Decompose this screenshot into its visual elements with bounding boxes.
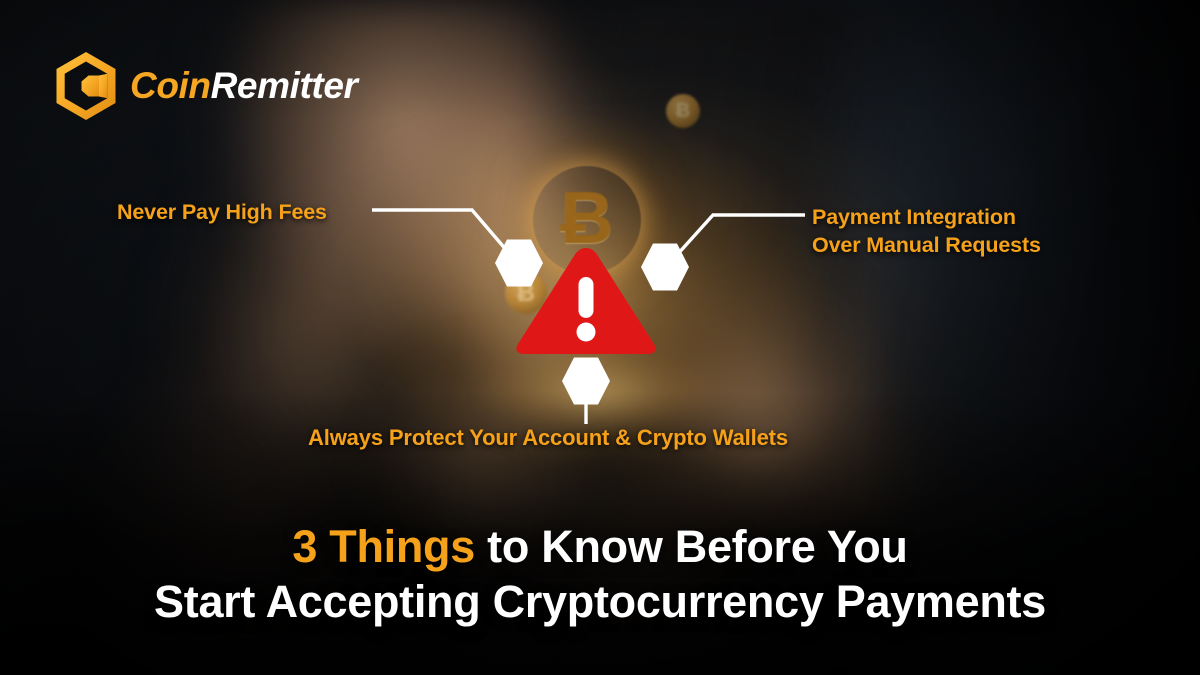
headline: 3 Things to Know Before You Start Accept… [0,520,1200,630]
headline-line1-rest: to Know Before You [475,521,908,572]
headline-line-1: 3 Things to Know Before You [0,520,1200,575]
headline-line-2: Start Accepting Cryptocurrency Payments [0,575,1200,630]
promo-banner: Ƀ Ƀ CoinRemitter [0,0,1200,675]
callout-fees-text: Never Pay High Fees [117,200,327,224]
callout-payment-line2: Over Manual Requests [812,231,1041,259]
callout-label-fees: Never Pay High Fees [117,198,327,226]
coinremitter-hexagon-c-logo-icon [55,52,117,120]
brand-name-part1: Coin [130,65,211,106]
callout-label-protect: Always Protect Your Account & Crypto Wal… [308,423,788,452]
warning-triangle-icon [512,244,660,356]
brand-logo[interactable]: CoinRemitter [55,52,358,120]
callout-protect-text: Always Protect Your Account & Crypto Wal… [308,425,788,450]
callout-label-payment: Payment Integration Over Manual Requests [812,203,1041,260]
brand-name-part2: Remitter [211,65,358,106]
bitcoin-mini-coin-icon: Ƀ [666,94,700,128]
callout-payment-line1: Payment Integration [812,203,1041,231]
headline-accent: 3 Things [292,521,475,572]
brand-wordmark: CoinRemitter [130,65,358,107]
